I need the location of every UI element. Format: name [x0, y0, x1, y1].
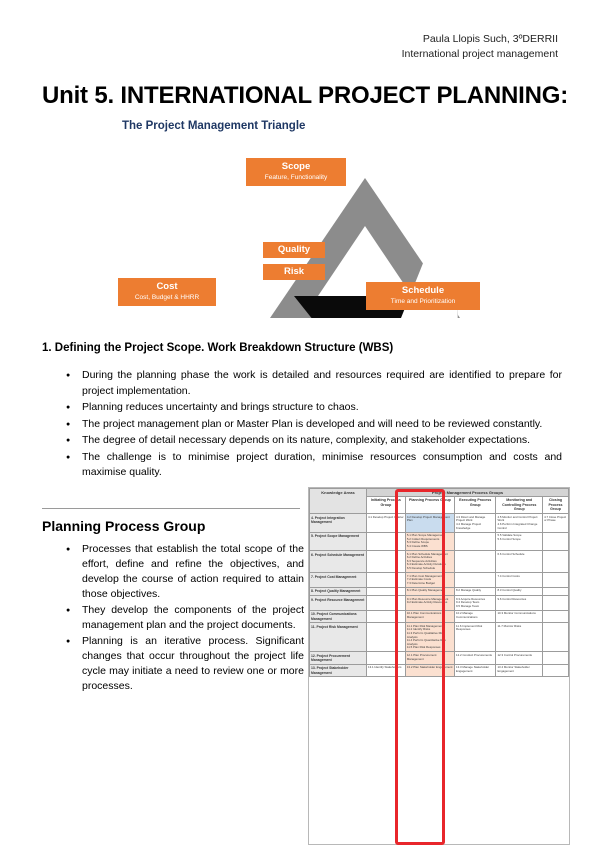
table-cell-planning: 5.1 Plan Scope Management5.2 Collect Req… — [405, 532, 454, 550]
page-subtitle: The Project Management Triangle — [122, 120, 305, 132]
table-cell-executing — [455, 551, 496, 573]
table-cell-executing: 10.2 Manage Communications — [455, 610, 496, 622]
header-course: International project management — [402, 47, 558, 62]
header-author: Paula Llopis Such, 3ºDERRII — [402, 32, 558, 47]
table-cell-initiating — [366, 596, 405, 611]
table-cell-closing: 4.7 Close Project or Phase — [543, 514, 569, 532]
table-cell-monitoring: 7.4 Control Costs — [496, 573, 543, 588]
list-item: They develop the components of the proje… — [82, 603, 304, 633]
list-item: Processes that establish the total scope… — [82, 542, 304, 602]
table-cell-closing — [543, 623, 569, 652]
table-cell-executing: 11.6 Implement Risk Responses — [455, 623, 496, 652]
table-cell-initiating — [366, 573, 405, 588]
table-cell-initiating — [366, 532, 405, 550]
table-cell-initiating — [366, 623, 405, 652]
table-cell-planning: 12.1 Plan Procurement Management — [405, 652, 454, 664]
table-cell-monitoring: 5.5 Validate Scope5.6 Control Scope — [496, 532, 543, 550]
schedule-title: Schedule — [374, 285, 472, 297]
table-cell-knowledge-area: 9. Project Resource Management — [310, 596, 367, 611]
table-cell-initiating — [366, 587, 405, 595]
table-cell-executing: 8.2 Manage Quality — [455, 587, 496, 595]
table-row: 12. Project Procurement Management12.1 P… — [310, 652, 569, 664]
column-header-planning: Planning Process Group — [405, 496, 454, 514]
scope-sub: Feature, Functionality — [254, 173, 338, 182]
table-cell-initiating: 4.1 Develop Project Charter — [366, 514, 405, 532]
table-cell-monitoring: 9.6 Control Resources — [496, 596, 543, 611]
table-cell-monitoring: 13.4 Monitor Stakeholder Engagement — [496, 664, 543, 676]
table-cell-knowledge-area: 6. Project Schedule Management — [310, 551, 367, 573]
list-item: During the planning phase the work is de… — [82, 368, 562, 399]
table-cell-closing — [543, 652, 569, 664]
triangle-label-quality: Quality — [263, 242, 325, 258]
table-cell-planning: 10.1 Plan Communications Management — [405, 610, 454, 622]
table-cell-executing — [455, 532, 496, 550]
triangle-label-cost: Cost Cost, Budget & HHRR — [118, 278, 216, 306]
table-cell-initiating — [366, 551, 405, 573]
list-item: Planning is an iterative process. Signif… — [82, 634, 304, 694]
table-cell-initiating: 13.1 Identify Stakeholders — [366, 664, 405, 676]
table-row: 13. Project Stakeholder Management13.1 I… — [310, 664, 569, 676]
table-cell-monitoring: 6.6 Control Schedule — [496, 551, 543, 573]
table-cell-closing — [543, 587, 569, 595]
table-cell-monitoring: 10.3 Monitor Communications — [496, 610, 543, 622]
table-row: 8. Project Quality Management8.1 Plan Qu… — [310, 587, 569, 595]
list-item: The challenge is to minimise project dur… — [82, 450, 562, 481]
pm-process-groups-table: Knowledge Areas Project Management Proce… — [308, 487, 570, 845]
table-cell-monitoring: 12.3 Control Procurements — [496, 652, 543, 664]
table-row: 6. Project Schedule Management6.1 Plan S… — [310, 551, 569, 573]
table-row: 7. Project Cost Management7.1 Plan Cost … — [310, 573, 569, 588]
column-header-executing: Executing Process Group — [455, 496, 496, 514]
section-2-bullet-list: Processes that establish the total scope… — [62, 542, 304, 695]
table-cell-planning: 8.1 Plan Quality Management — [405, 587, 454, 595]
table-cell-closing — [543, 664, 569, 676]
table-cell-knowledge-area: 4. Project Integration Management — [310, 514, 367, 532]
table-cell-knowledge-area: 12. Project Procurement Management — [310, 652, 367, 664]
schedule-sub: Time and Prioritization — [374, 297, 472, 306]
cost-title: Cost — [126, 281, 208, 293]
table-cell-knowledge-area: 7. Project Cost Management — [310, 573, 367, 588]
document-header: Paula Llopis Such, 3ºDERRII Internationa… — [402, 32, 558, 62]
list-item: The degree of detail necessary depends o… — [82, 433, 562, 449]
risk-title: Risk — [269, 266, 319, 278]
knowledge-areas-header: Knowledge Areas — [310, 489, 367, 514]
column-header-monitoring: Monitoring and Controlling Process Group — [496, 496, 543, 514]
table-cell-executing: 4.3 Direct and Manage Project Work4.4 Ma… — [455, 514, 496, 532]
table-row: 5. Project Scope Management5.1 Plan Scop… — [310, 532, 569, 550]
table-cell-knowledge-area: 13. Project Stakeholder Management — [310, 664, 367, 676]
table-cell-planning: 6.1 Plan Schedule Management6.2 Define A… — [405, 551, 454, 573]
table-row: 4. Project Integration Management4.1 Dev… — [310, 514, 569, 532]
table-cell-closing — [543, 573, 569, 588]
section-divider — [42, 508, 300, 509]
table-cell-knowledge-area: 8. Project Quality Management — [310, 587, 367, 595]
table-cell-planning: 11.1 Plan Risk Management11.2 Identify R… — [405, 623, 454, 652]
table-cell-monitoring: 8.3 Control Quality — [496, 587, 543, 595]
list-item: Planning reduces uncertainty and brings … — [82, 400, 562, 416]
table-cell-planning: 7.1 Plan Cost Management7.2 Estimate Cos… — [405, 573, 454, 588]
table-cell-closing — [543, 551, 569, 573]
scope-title: Scope — [254, 161, 338, 173]
table-row: 10. Project Communications Management10.… — [310, 610, 569, 622]
project-management-triangle-figure: Scope Feature, Functionality Cost Cost, … — [118, 158, 488, 318]
table-cell-executing: 13.3 Manage Stakeholder Engagement — [455, 664, 496, 676]
table-cell-executing: 9.3 Acquire Resources9.4 Develop Team9.5… — [455, 596, 496, 611]
table-cell-monitoring: 11.7 Monitor Risks — [496, 623, 543, 652]
table-cell-knowledge-area: 10. Project Communications Management — [310, 610, 367, 622]
table-cell-closing — [543, 610, 569, 622]
table-cell-executing: 12.2 Conduct Procurements — [455, 652, 496, 664]
triangle-label-scope: Scope Feature, Functionality — [246, 158, 346, 186]
table-cell-executing — [455, 573, 496, 588]
triangle-label-risk: Risk — [263, 264, 325, 280]
table-cell-initiating — [366, 652, 405, 664]
table-cell-planning: 13.2 Plan Stakeholder Engagement — [405, 664, 454, 676]
section-2-heading: Planning Process Group — [42, 518, 205, 534]
table-cell-knowledge-area: 5. Project Scope Management — [310, 532, 367, 550]
section-1-bullet-list: During the planning phase the work is de… — [62, 368, 562, 482]
table-cell-monitoring: 4.5 Monitor and Control Project Work4.6 … — [496, 514, 543, 532]
table-cell-planning: 9.1 Plan Resource Management9.2 Estimate… — [405, 596, 454, 611]
table-cell-closing — [543, 532, 569, 550]
page-title: Unit 5. INTERNATIONAL PROJECT PLANNING: — [42, 82, 568, 110]
quality-title: Quality — [269, 244, 319, 256]
table-cell-closing — [543, 596, 569, 611]
column-header-closing: Closing Process Group — [543, 496, 569, 514]
table-row: 9. Project Resource Management9.1 Plan R… — [310, 596, 569, 611]
table-row: 11. Project Risk Management11.1 Plan Ris… — [310, 623, 569, 652]
cost-sub: Cost, Budget & HHRR — [126, 293, 208, 302]
table-cell-planning: 4.2 Develop Project Management Plan — [405, 514, 454, 532]
process-groups-header: Project Management Process Groups — [366, 489, 568, 497]
document-page: Paula Llopis Such, 3ºDERRII Internationa… — [0, 0, 600, 848]
triangle-label-schedule: Schedule Time and Prioritization — [366, 282, 480, 310]
list-item: The project management plan or Master Pl… — [82, 417, 562, 433]
column-header-initiating: Initiating Process Group — [366, 496, 405, 514]
section-1-heading: 1. Defining the Project Scope. Work Brea… — [42, 342, 393, 354]
table-cell-knowledge-area: 11. Project Risk Management — [310, 623, 367, 652]
table-cell-initiating — [366, 610, 405, 622]
